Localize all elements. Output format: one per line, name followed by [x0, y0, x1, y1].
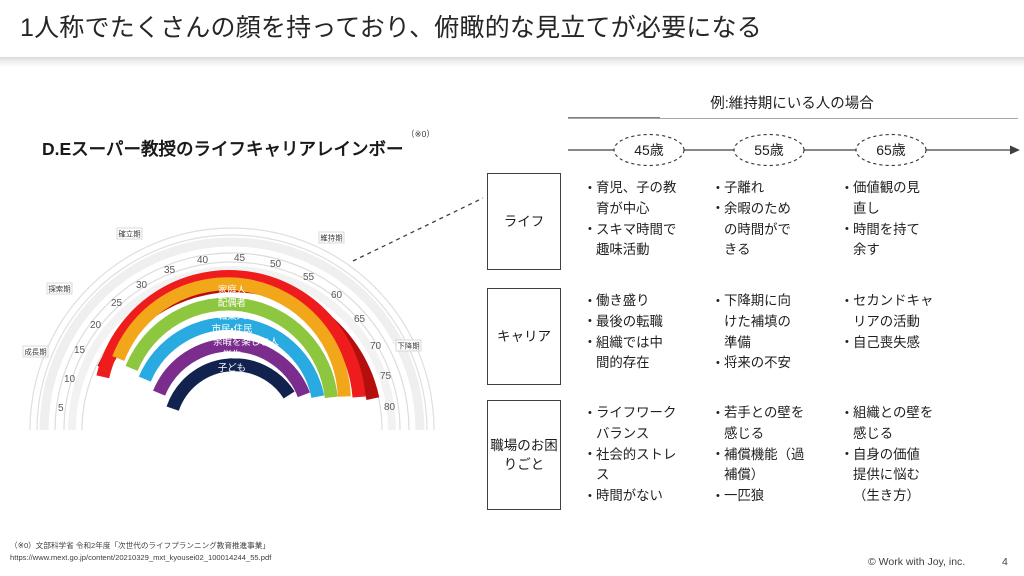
- caption-rule: [568, 118, 1018, 119]
- cell-workplace-45: ライフワーク バランス 社会的ストレ ス 時間がない: [588, 403, 700, 507]
- svg-text:20: 20: [90, 320, 102, 331]
- role-label-kateijin: 家庭人: [218, 284, 247, 295]
- bullet-text: 余暇のため: [724, 201, 791, 216]
- bullet-text: 働き盛り: [596, 293, 650, 308]
- bullet-text-cont: きる: [724, 240, 828, 261]
- stage-label-seichouki: 成長期: [23, 346, 48, 357]
- svg-text:40: 40: [197, 255, 209, 266]
- bullet-text: 最後の転職: [596, 314, 663, 329]
- age-marker-55[interactable]: 55歳: [734, 135, 804, 166]
- age-marker-45[interactable]: 45歳: [614, 135, 684, 166]
- page-number: 4: [1002, 556, 1008, 568]
- timeline-arrowhead: [1010, 146, 1020, 155]
- example-caption: 例:維持期にいる人の場合: [570, 92, 1014, 113]
- svg-text:60: 60: [331, 290, 343, 301]
- bullet-text-cont: 準備: [724, 333, 828, 354]
- row-label-text: キャリア: [497, 327, 551, 346]
- role-label-haiguusha: 配偶者: [218, 297, 246, 308]
- bullet-item: 一匹狼: [716, 486, 828, 507]
- bullet-text: 自己喪失感: [853, 335, 920, 350]
- bullet-text-cont: の時間がで: [724, 220, 828, 241]
- role-label-shokugyoujin: 職業人: [218, 310, 247, 321]
- bullet-item: 子離れ: [716, 178, 828, 199]
- bullet-item: 自身の価値 提供に悩む （生き方）: [845, 445, 957, 507]
- bullet-text-cont: ス: [596, 465, 700, 486]
- bullet-text: 時間がない: [596, 488, 663, 503]
- svg-text:80: 80: [384, 402, 396, 413]
- leader-line: [350, 195, 490, 265]
- age-marker-65[interactable]: 65歳: [856, 135, 926, 166]
- bullet-item: 下降期に向 けた補填の 準備: [716, 291, 828, 353]
- leader-dashed-line: [353, 198, 483, 261]
- bullet-item: 若手との壁を 感じる: [716, 403, 828, 445]
- stage-label-ijiki: 維持期: [319, 232, 344, 243]
- page-title: 1人称でたくさんの顔を持っており、俯瞰的な見立てが必要になる: [20, 8, 762, 48]
- svg-text:成長期: 成長期: [24, 347, 46, 356]
- svg-text:45歳: 45歳: [634, 142, 664, 158]
- bullet-item: 余暇のため の時間がで きる: [716, 199, 828, 261]
- age-timeline: 45歳 55歳 65歳: [566, 128, 1022, 172]
- svg-text:70: 70: [370, 341, 382, 352]
- bullet-text: スキマ時間で: [596, 222, 676, 237]
- footnote-line-2: https://www.mext.go.jp/content/20210329_…: [10, 552, 271, 564]
- bullet-item: 育児、子の教 育が中心: [588, 178, 700, 220]
- cell-life-65: 価値観の見 直し 時間を持て 余す: [845, 178, 957, 261]
- bullet-text-cont: 余す: [853, 240, 957, 261]
- rainbow-diagram-heading: D.Eスーパー教授のライフキャリアレインボー: [42, 136, 404, 161]
- role-label-gakusei: 学生: [223, 349, 242, 360]
- bullet-text: 育児、子の教: [596, 180, 676, 195]
- bullet-text: 価値観の見: [853, 180, 920, 195]
- bullet-text: セカンドキャ: [853, 293, 933, 308]
- svg-text:探索期: 探索期: [48, 284, 70, 293]
- stage-label-kakuritsuki: 確立期: [117, 228, 142, 239]
- row-label-text: ライフ: [504, 212, 545, 231]
- cell-career-45: 働き盛り 最後の転職 組織では中 間的存在: [588, 291, 700, 374]
- cell-workplace-65: 組織との壁を 感じる 自身の価値 提供に悩む （生き方）: [845, 403, 957, 507]
- bullet-item: 補償機能（過 補償）: [716, 445, 828, 487]
- bullet-item: ライフワーク バランス: [588, 403, 700, 445]
- bullet-text: 自身の価値: [853, 447, 920, 462]
- bullet-text-cont: 直し: [853, 199, 957, 220]
- copyright-notice: © Work with Joy, inc.: [868, 556, 965, 568]
- bullet-text: 補償機能（過: [724, 447, 804, 462]
- stage-label-kakouki: 下降期: [396, 340, 421, 351]
- bullet-text: 子離れ: [724, 180, 764, 195]
- bullet-text-cont: 趣味活動: [596, 240, 700, 261]
- bullet-text-cont: 補償）: [724, 465, 828, 486]
- caption-rule-accent: [568, 117, 660, 118]
- bullet-text: ライフワーク: [596, 405, 676, 420]
- svg-text:55: 55: [303, 272, 315, 283]
- bullet-item: 時間を持て 余す: [845, 220, 957, 262]
- bullet-item: 働き盛り: [588, 291, 700, 312]
- svg-text:5: 5: [58, 403, 64, 414]
- bullet-item: 最後の転職: [588, 312, 700, 333]
- bullet-item: 自己喪失感: [845, 333, 957, 354]
- slide-canvas: 1人称でたくさんの顔を持っており、俯瞰的な見立てが必要になる D.Eスーパー教授…: [0, 0, 1024, 576]
- bullet-item: セカンドキャ リアの活動: [845, 291, 957, 333]
- bullet-text: 下降期に向: [724, 293, 791, 308]
- bullet-item: 将来の不安: [716, 353, 828, 374]
- bullet-text: 一匹狼: [724, 488, 764, 503]
- svg-text:75: 75: [380, 371, 392, 382]
- bullet-item: 時間がない: [588, 486, 700, 507]
- svg-text:25: 25: [111, 298, 123, 309]
- rainbow-heading-footnote-marker: （※0）: [406, 128, 435, 140]
- cell-workplace-55: 若手との壁を 感じる 補償機能（過 補償） 一匹狼: [716, 403, 828, 507]
- bullet-text-cont: 間的存在: [596, 353, 700, 374]
- row-label-life[interactable]: ライフ: [487, 173, 561, 270]
- svg-text:30: 30: [136, 280, 148, 291]
- bullet-text-cont: （生き方）: [853, 486, 957, 507]
- svg-text:維持期: 維持期: [320, 233, 342, 242]
- bullet-text: 組織では中: [596, 335, 663, 350]
- bullet-text-cont: リアの活動: [853, 312, 957, 333]
- svg-text:10: 10: [64, 374, 76, 385]
- bullet-item: 社会的ストレ ス: [588, 445, 700, 487]
- svg-text:45: 45: [234, 253, 246, 264]
- svg-text:35: 35: [164, 265, 176, 276]
- cell-life-55: 子離れ 余暇のため の時間がで きる: [716, 178, 828, 261]
- source-footnote: （※0）文部科学省 令和2年度「次世代のライフプランニング教育推進事業」 htt…: [10, 540, 271, 564]
- bullet-text-cont: けた補填の: [724, 312, 828, 333]
- title-shadow-divider: [0, 57, 1024, 67]
- cell-career-55: 下降期に向 けた補填の 準備 将来の不安: [716, 291, 828, 374]
- bullet-text-cont: 感じる: [853, 424, 957, 445]
- bullet-text-cont: 感じる: [724, 424, 828, 445]
- bullet-item: 組織では中 間的存在: [588, 333, 700, 375]
- row-label-text: 職場のお困りごと: [488, 436, 560, 474]
- bullet-text-cont: 育が中心: [596, 199, 700, 220]
- bullet-text: 若手との壁を: [724, 405, 804, 420]
- svg-text:55歳: 55歳: [754, 142, 784, 158]
- bullet-text-cont: 提供に悩む: [853, 465, 957, 486]
- svg-text:65歳: 65歳: [876, 142, 906, 158]
- role-label-shimin-juumin: 市民・住民: [212, 323, 253, 334]
- bullet-text: 社会的ストレ: [596, 447, 676, 462]
- svg-text:下降期: 下降期: [397, 341, 419, 350]
- bullet-text: 組織との壁を: [853, 405, 933, 420]
- bullet-item: 組織との壁を 感じる: [845, 403, 957, 445]
- svg-text:50: 50: [270, 259, 282, 270]
- cell-life-45: 育児、子の教 育が中心 スキマ時間で 趣味活動: [588, 178, 700, 261]
- footnote-line-1: （※0）文部科学省 令和2年度「次世代のライフプランニング教育推進事業」: [10, 540, 271, 552]
- role-label-yoka: 余暇を楽しむ人: [213, 336, 279, 347]
- svg-text:15: 15: [74, 345, 86, 356]
- bullet-text-cont: バランス: [596, 424, 700, 445]
- bullet-text: 将来の不安: [724, 355, 791, 370]
- svg-text:確立期: 確立期: [118, 229, 140, 238]
- bullet-item: 価値観の見 直し: [845, 178, 957, 220]
- role-label-kodomo: 子ども: [218, 362, 246, 373]
- cell-career-65: セカンドキャ リアの活動 自己喪失感: [845, 291, 957, 353]
- title-band: 1人称でたくさんの顔を持っており、俯瞰的な見立てが必要になる: [0, 0, 1024, 57]
- row-label-career[interactable]: キャリア: [487, 288, 561, 385]
- stage-label-tansakuki: 探索期: [47, 283, 72, 294]
- svg-text:65: 65: [354, 314, 366, 325]
- row-label-workplace-issues[interactable]: 職場のお困りごと: [487, 400, 561, 510]
- bullet-text: 時間を持て: [853, 222, 920, 237]
- bullet-item: スキマ時間で 趣味活動: [588, 220, 700, 262]
